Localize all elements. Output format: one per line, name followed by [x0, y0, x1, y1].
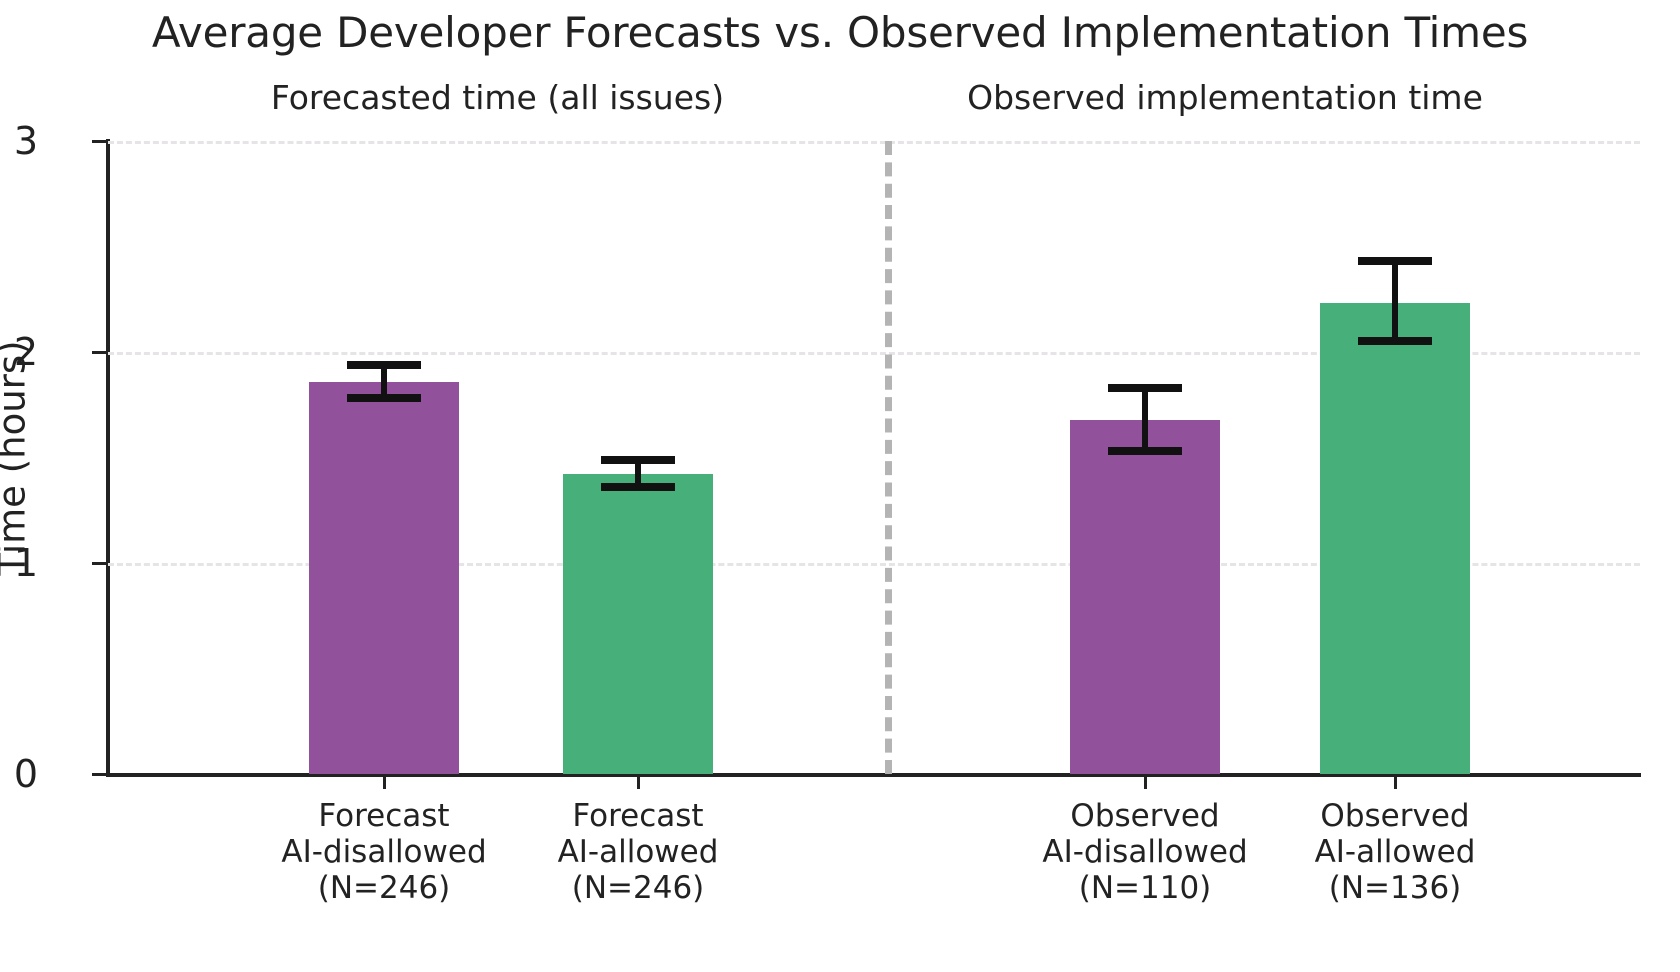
bar-forecast-ai-disallowed[interactable]: [309, 382, 459, 774]
x-tick-label-observed-ai-allowed: Observed AI-allowed (N=136): [1205, 799, 1585, 907]
bar-observed-ai-disallowed[interactable]: [1070, 420, 1220, 774]
x-tick-mark-forecast-ai-disallowed: [383, 774, 386, 789]
errorbar-cap-top: [1358, 257, 1432, 265]
x-tick-label-forecast-ai-allowed: Forecast AI-allowed (N=246): [448, 799, 828, 907]
x-tick-mark-observed-ai-disallowed: [1144, 774, 1147, 789]
errorbar-cap-top: [347, 361, 421, 369]
x-tick-mark-observed-ai-allowed: [1394, 774, 1397, 789]
y-tick-mark-0: [92, 773, 108, 776]
bar-observed-ai-allowed[interactable]: [1320, 303, 1470, 774]
panel-title-forecast: Forecasted time (all issues): [110, 78, 885, 117]
bar-forecast-ai-allowed[interactable]: [563, 474, 713, 774]
y-tick-mark-3: [92, 140, 108, 143]
x-tick-mark-forecast-ai-allowed: [637, 774, 640, 789]
plot-area: 0123 Time (hours) Forecast AI-disallowed…: [108, 141, 1640, 774]
y-tick-mark-1: [92, 562, 108, 565]
y-tick-label-3: 3: [0, 119, 38, 163]
panel-divider: [885, 141, 892, 774]
y-axis-label: Time (hours): [0, 340, 34, 575]
chart-figure: Average Developer Forecasts vs. Observed…: [0, 0, 1680, 972]
errorbar-line: [381, 365, 387, 399]
errorbar-cap-bottom: [1358, 337, 1432, 345]
errorbar-cap-bottom: [1108, 447, 1182, 455]
y-tick-label-0: 0: [0, 752, 38, 796]
errorbar-cap-top: [1108, 384, 1182, 392]
errorbar-cap-bottom: [347, 394, 421, 402]
errorbar-line: [1392, 261, 1398, 341]
panel-title-observed: Observed implementation time: [885, 78, 1565, 117]
y-tick-mark-2: [92, 351, 108, 354]
gridline-3: [108, 141, 1640, 144]
chart-title: Average Developer Forecasts vs. Observed…: [0, 8, 1680, 57]
errorbar-cap-bottom: [601, 483, 675, 491]
errorbar-cap-top: [601, 456, 675, 464]
y-axis-line: [106, 139, 110, 776]
errorbar-line: [1142, 388, 1148, 451]
